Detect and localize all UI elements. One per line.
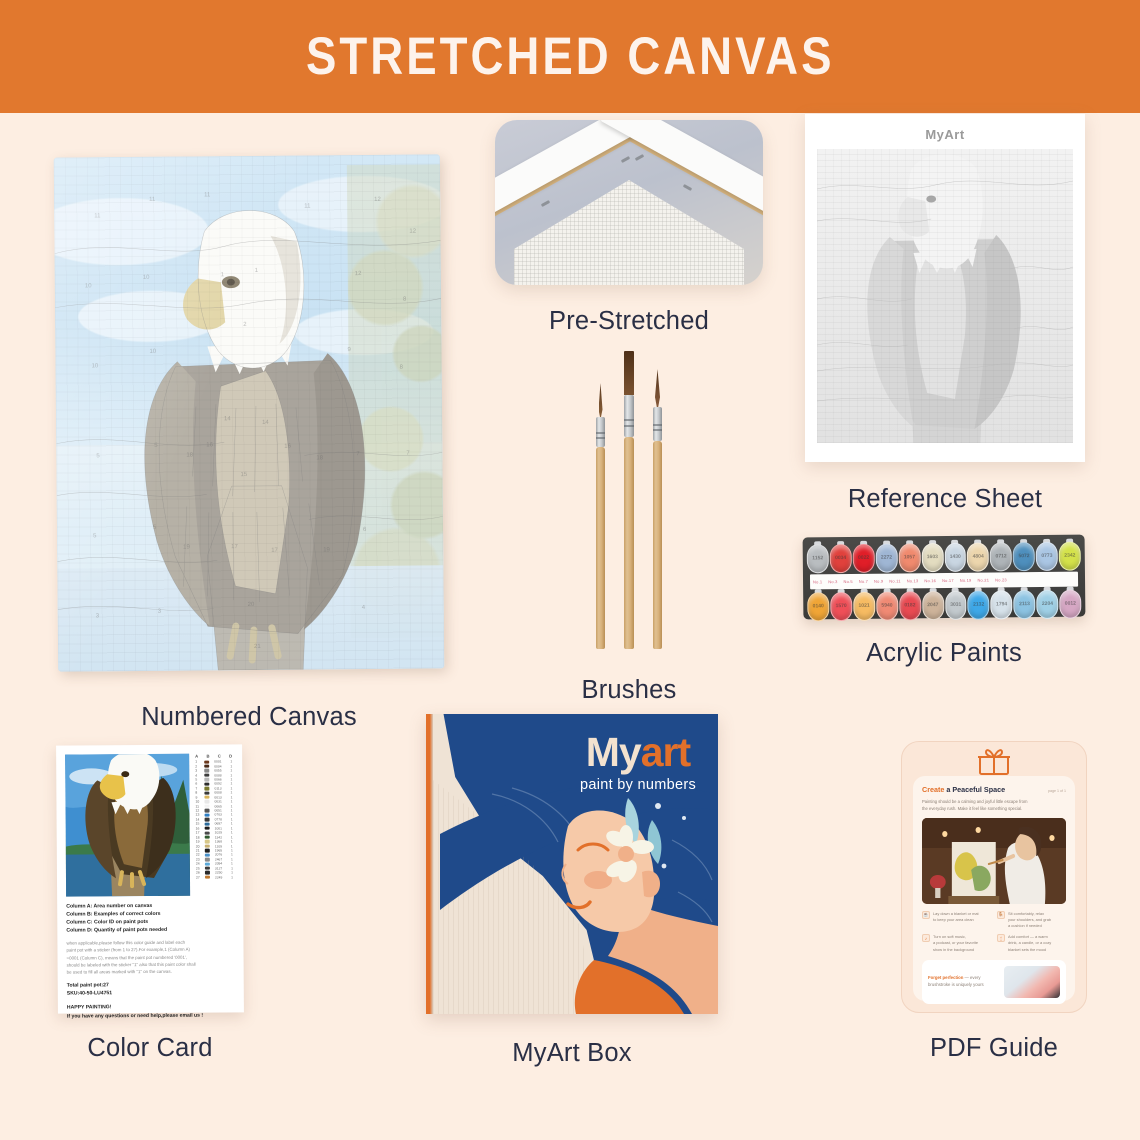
legend-color-swatch [205, 840, 210, 843]
legend-color-swatch [205, 875, 210, 878]
paint-label: No.19 [960, 578, 972, 583]
footer-line: brushstroke is uniquely yours [928, 982, 998, 989]
legend-color-swatch [205, 858, 210, 861]
paint-pot: 1021 [853, 590, 875, 621]
paint-pot: 1603 [921, 541, 943, 572]
paint-pot: 1570 [830, 590, 852, 621]
paint-pot: 2047 [922, 589, 944, 620]
pdf-tip: 🕯Add comfort — a warmdrink, a candle, or… [997, 934, 1066, 952]
reference-sheet-logo: MyArt [817, 127, 1073, 142]
paint-pot: 2132 [968, 589, 990, 620]
legend-color-swatch [205, 778, 210, 781]
legend-color-swatch [205, 813, 210, 816]
legend-quantity: 1 [227, 848, 233, 852]
legend-area-number: 11 [195, 804, 203, 808]
logo-my: My [586, 729, 641, 775]
legend-color-swatch [205, 804, 210, 807]
legend-area-number: 5 [195, 778, 203, 782]
reference-sheet-texture [817, 149, 1073, 443]
legend-quantity: 1 [226, 769, 232, 773]
legend-color-swatch [205, 831, 210, 834]
reference-sheet-image [817, 149, 1073, 443]
legend-color-swatch [205, 809, 210, 812]
paint-pot: 5940 [876, 589, 898, 620]
legend-color-swatch [205, 849, 210, 852]
paint-label: No.11 [889, 578, 900, 583]
legend-quantity: 1 [227, 857, 233, 861]
pdf-title-highlight: Create [922, 785, 944, 794]
item-numbered-canvas: 111111 111212 101012 81010 985 577 556 3… [56, 156, 442, 732]
legend-column-header: B [206, 754, 209, 759]
staple-icon [635, 154, 644, 161]
paint-pot-id: 1430 [944, 541, 966, 572]
pdf-guide-card: Create a Peaceful Space page 1 of 1 Pain… [901, 741, 1087, 1013]
paint-pot-id: 2272 [875, 541, 897, 572]
legend-area-number: 9 [195, 795, 203, 799]
tip-icon: 🕯 [997, 934, 1005, 942]
legend-area-number: 12 [196, 809, 204, 813]
body-line: Painting should be a calming and joyful … [922, 798, 1066, 805]
page-title: STRETCHED CANVAS [306, 26, 834, 87]
legend-quantity: 1 [226, 808, 232, 812]
reference-sheet-paper: MyArt [805, 114, 1085, 462]
footer-highlight: Forget perfection [928, 975, 963, 980]
legend-quantity: 1 [226, 760, 232, 764]
paint-label: No.9 [874, 579, 883, 584]
legend-area-number: 27 [196, 875, 204, 879]
legend-area-number: 1 [195, 760, 203, 764]
legend-color-swatch [205, 818, 210, 821]
legend-quantity: 1 [226, 804, 232, 808]
paint-pot-id: 1057 [898, 541, 920, 572]
paint-pot: 0034 [830, 542, 852, 573]
myart-box-caption: MyArt Box [376, 1039, 768, 1068]
legend-quantity: 1 [226, 786, 232, 790]
pdf-title-rest: a Peaceful Space [944, 785, 1005, 794]
pdf-guide-footer: Forget perfection — every brushstroke is… [922, 960, 1066, 1004]
color-card-summary: Total paint pot:27 SKU:40-50-LU4751 [67, 980, 235, 998]
legend-quantity: 1 [227, 840, 233, 844]
legend-quantity: 1 [226, 777, 232, 781]
legend-area-number: 15 [196, 822, 204, 826]
item-brushes: Brushes [498, 346, 760, 705]
paint-pot: 0712 [990, 540, 1012, 571]
item-pdf-guide: Create a Peaceful Space page 1 of 1 Pain… [896, 741, 1092, 1063]
legend-color-swatch [204, 760, 209, 763]
paint-pot-id: 5072 [1013, 540, 1035, 571]
legend-quantity: 1 [227, 844, 233, 848]
canvas-texture [54, 154, 444, 671]
paint-pot: 4804 [967, 541, 989, 572]
pdf-guide-body: Painting should be a calming and joyful … [922, 798, 1066, 812]
legend-area-number: 10 [195, 800, 203, 804]
legend-rows: 1000112000413005514008815006616009217011… [194, 759, 234, 879]
legend-quantity: 1 [227, 835, 233, 839]
paint-pot-id: 1570 [830, 590, 852, 621]
tip-text: Add comfort — a warmdrink, a candle, or … [1008, 934, 1051, 952]
pdf-guide-tips: ☕Lay down a blanket or matto keep your a… [922, 911, 1066, 952]
tip-text: Turn on soft music,a podcast, or your fa… [933, 934, 978, 952]
paint-tray: 1152003400222272105716031430480407125072… [803, 535, 1086, 620]
paint-pot: 3031 [945, 589, 967, 620]
staple-icon [621, 156, 630, 163]
paint-pot-id: 0012 [1059, 588, 1081, 619]
note-line: be used to fill all areas marked with "1… [67, 967, 235, 975]
pdf-guide-title: Create a Peaceful Space [922, 785, 1005, 794]
paint-pot-id: 2204 [1036, 588, 1058, 619]
myart-logo: Myart paint by numbers [580, 732, 696, 793]
staple-icon [541, 200, 550, 207]
paint-pot-id: 2132 [968, 589, 990, 620]
legend-area-number: 4 [195, 773, 203, 777]
paint-pot-id: 2047 [922, 589, 944, 620]
legend-color-swatch [205, 822, 210, 825]
paint-pot: 2342 [1059, 540, 1081, 571]
paint-pot: 1794 [990, 588, 1012, 619]
brush-tip [655, 369, 660, 407]
legend-quantity: 1 [226, 773, 232, 777]
paint-pot: 2272 [875, 541, 897, 572]
paint-pot: 0012 [1059, 588, 1081, 619]
legend-area-number: 19 [196, 840, 204, 844]
paint-pot-id: 0182 [899, 589, 921, 620]
legend-quantity: 1 [226, 800, 232, 804]
paint-label: No.3 [828, 579, 837, 584]
tip-icon: ♪ [922, 934, 930, 942]
paint-pot-id: 3031 [945, 589, 967, 620]
pdf-tip: 🪑Sit comfortably, relaxyour shoulders, a… [997, 911, 1066, 929]
tip-icon: ☕ [922, 911, 930, 919]
color-card-legend: ABCD 10001120004130055140088150066160092… [194, 753, 234, 895]
paint-label: No.5 [844, 579, 853, 584]
numbered-canvas-image: 111111 111212 101012 81010 985 577 556 3… [54, 154, 444, 671]
legend-quantity: 1 [227, 866, 233, 870]
paint-pot: 0022 [852, 542, 874, 573]
legend-area-number: 7 [195, 786, 203, 790]
brush-tip [599, 383, 603, 417]
pdf-tip: ☕Lay down a blanket or matto keep your a… [922, 911, 991, 929]
canvas-weave [514, 180, 744, 285]
reference-sheet-caption: Reference Sheet [802, 485, 1088, 514]
pre-stretched-image [495, 120, 763, 285]
pre-stretched-caption: Pre-Stretched [490, 307, 768, 336]
paint-pot-id: 1152 [807, 542, 829, 573]
paint-pot-id: 1794 [990, 588, 1012, 619]
legend-area-number: 6 [195, 782, 203, 786]
staple-icon [683, 184, 692, 191]
legend-area-number: 21 [196, 849, 204, 853]
paint-pot: 0140 [807, 590, 829, 621]
paint-label-strip: No.1No.3No.5No.7No.9No.11No.13No.16No.17… [810, 572, 1078, 590]
pdf-guide-page: Create a Peaceful Space page 1 of 1 Pain… [913, 776, 1075, 1001]
legend-color-swatch [205, 765, 210, 768]
paint-label: No.7 [859, 579, 868, 584]
help-contact-text: If you have any questions or need help,p… [67, 1011, 235, 1020]
paint-pot-id: 5940 [876, 589, 898, 620]
legend-quantity: 1 [227, 871, 233, 875]
paint-pot: 2113 [1013, 588, 1035, 619]
footer-rest: — every [963, 975, 980, 980]
paint-pot: 0182 [899, 589, 921, 620]
myart-logo-text: Myart [580, 732, 696, 773]
legend-area-number: 13 [196, 813, 204, 817]
legend-color-swatch [205, 853, 210, 856]
legend-area-number: 2 [195, 764, 203, 768]
paint-pot-row-bottom: 0140157010215940018220473031213217942113… [807, 588, 1081, 622]
tip-icon: 🪑 [997, 911, 1005, 919]
legend-row: 2722491 [195, 875, 234, 880]
paint-pot-id: 1021 [853, 590, 875, 621]
pdf-page-number: page 1 of 1 [1048, 789, 1066, 793]
pdf-guide-photo [922, 818, 1066, 904]
logo-art: art [641, 729, 690, 775]
product-contents-grid: 111111 111212 101012 81010 985 577 556 3… [0, 113, 1140, 1140]
legend-column-header: C [218, 754, 221, 759]
legend-quantity: 1 [227, 862, 233, 866]
footer-thumbnail [1004, 966, 1060, 998]
legend-color-swatch [205, 800, 210, 803]
paint-pot-id: 2113 [1013, 588, 1035, 619]
paint-pot-id: 0022 [852, 542, 874, 573]
sku-code: SKU:40-50-LU4751 [67, 989, 235, 998]
tip-text: Lay down a blanket or matto keep your ar… [933, 911, 979, 929]
pdf-tip: ♪Turn on soft music,a podcast, or your f… [922, 934, 991, 952]
myart-logo-subtitle: paint by numbers [580, 777, 696, 793]
paint-label: No.16 [924, 578, 936, 583]
legend-quantity: 1 [226, 791, 232, 795]
paint-pot: 5072 [1013, 540, 1035, 571]
legend-color-swatch [205, 827, 210, 830]
legend-color-swatch [205, 796, 210, 799]
paint-pot: 0773 [1036, 540, 1058, 571]
legend-color-swatch [205, 836, 210, 839]
legend-quantity: 1 [227, 813, 233, 817]
legend-quantity: 1 [227, 817, 233, 821]
brush-flat [624, 351, 634, 649]
paint-pot-id: 0712 [990, 540, 1012, 571]
footer-text: Forget perfection — every brushstroke is… [928, 975, 998, 989]
paint-pot: 1430 [944, 541, 966, 572]
legend-color-swatch [205, 782, 210, 785]
page-header: STRETCHED CANVAS [0, 0, 1140, 113]
paint-pot-row-top: 1152003400222272105716031430480407125072… [807, 540, 1081, 574]
legend-quantity: 1 [227, 826, 233, 830]
legend-color-swatch [205, 769, 210, 772]
legend-column-header: A [195, 754, 198, 759]
legend-color-id: 2249 [212, 875, 226, 879]
paint-pot: 1057 [898, 541, 920, 572]
legend-color-swatch [205, 787, 210, 790]
legend-area-number: 14 [196, 818, 204, 822]
paint-pot: 1152 [807, 542, 829, 573]
legend-area-number: 17 [196, 831, 204, 835]
item-myart-box: Myart paint by numbers MyArt Box [376, 714, 768, 1068]
paint-pot-id: 0773 [1036, 540, 1058, 571]
paint-pot-id: 0034 [830, 542, 852, 573]
paint-pot-id: 4804 [967, 541, 989, 572]
color-card-note: when applicable,please follow this color… [66, 939, 234, 976]
legend-quantity: 1 [226, 782, 232, 786]
item-pre-stretched: Pre-Stretched [490, 120, 768, 336]
legend-color-swatch [205, 862, 210, 865]
legend-column-header: D [229, 753, 232, 758]
paint-pot-id: 1603 [921, 541, 943, 572]
color-card-photo [65, 754, 190, 897]
gift-icon [977, 746, 1011, 776]
paint-label: No.21 [977, 578, 989, 583]
legend-area-number: 18 [196, 835, 204, 839]
color-card-caption: Color Card [52, 1034, 248, 1063]
item-acrylic-paints: 1152003400222272105716031430480407125072… [798, 536, 1090, 668]
brushes-caption: Brushes [498, 676, 760, 705]
paint-label: No.23 [995, 577, 1007, 582]
legend-quantity: 1 [227, 822, 233, 826]
tip-text: Sit comfortably, relaxyour shoulders, an… [1008, 911, 1051, 929]
legend-quantity: 1 [227, 831, 233, 835]
item-color-card: ABCD 10001120004130055140088150066160092… [52, 745, 248, 1063]
legend-color-swatch [205, 867, 210, 870]
legend-color-swatch [205, 871, 210, 874]
body-line: the everyday rush. Make it feel like som… [922, 805, 1066, 812]
paint-pot: 2204 [1036, 588, 1058, 619]
paint-pot-id: 0140 [807, 590, 829, 621]
brush-tip [624, 351, 634, 395]
paint-label: No.1 [813, 579, 822, 584]
legend-area-number: 8 [195, 791, 203, 795]
legend-quantity: 1 [226, 795, 232, 799]
legend-area-number: 16 [196, 826, 204, 830]
legend-color-swatch [205, 844, 210, 847]
color-card-paper: ABCD 10001120004130055140088150066160092… [56, 744, 244, 1013]
legend-color-swatch [205, 791, 210, 794]
paint-label: No.17 [942, 578, 954, 583]
pdf-guide-caption: PDF Guide [896, 1034, 1092, 1063]
paint-pot-id: 2342 [1059, 540, 1081, 571]
legend-quantity: 1 [227, 853, 233, 857]
myart-box-image: Myart paint by numbers [426, 714, 718, 1014]
legend-quantity: 1 [227, 875, 233, 879]
acrylic-paints-caption: Acrylic Paints [798, 639, 1090, 668]
legend-quantity: 1 [226, 764, 232, 768]
item-reference-sheet: MyArt [802, 114, 1088, 514]
legend-col-d-desc: Column D: Quantity of paint pots needed [66, 926, 234, 935]
brushes-image [498, 346, 760, 649]
brush-round-small [596, 386, 605, 649]
color-card-footer: HAPPY PAINTING! If you have any question… [67, 1003, 235, 1021]
legend-area-number: 20 [196, 844, 204, 848]
color-card-instructions: Column A: Area number on canvas Column B… [66, 901, 235, 1020]
legend-area-number: 3 [195, 769, 203, 773]
legend-color-swatch [205, 773, 210, 776]
brush-round-medium [653, 369, 662, 649]
paint-label: No.13 [907, 578, 919, 583]
